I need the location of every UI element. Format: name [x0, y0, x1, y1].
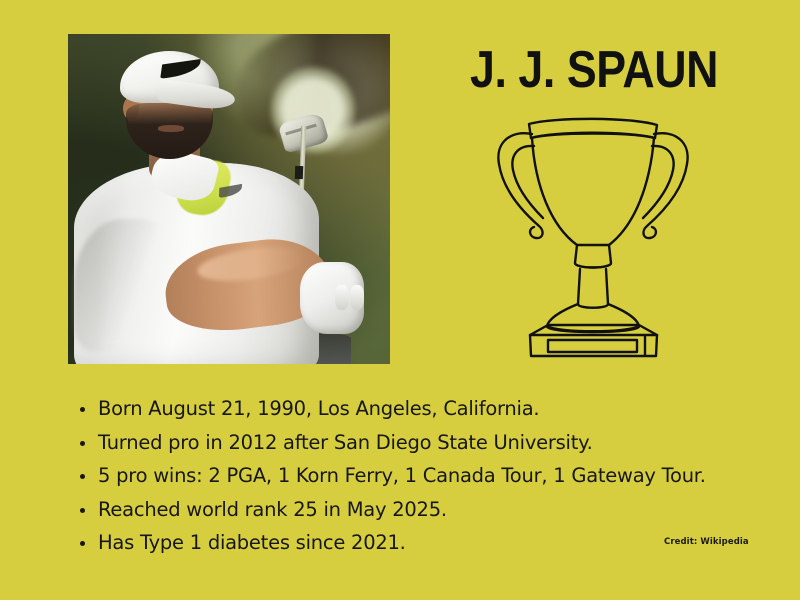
infographic-slide: J. J. SPAUN [0, 0, 800, 600]
photo-glove-finger [335, 285, 349, 310]
facts-list: Born August 21, 1990, Los Angeles, Calif… [78, 392, 768, 560]
list-item: Reached world rank 25 in May 2025. [78, 493, 768, 527]
photo-glove-finger [350, 285, 364, 310]
golfer-photo [68, 34, 390, 364]
photo-sleeve-shadow [74, 219, 171, 351]
credit-text: Credit: Wikipedia [664, 537, 749, 547]
page-title: J. J. SPAUN [470, 44, 728, 96]
list-item: 5 pro wins: 2 PGA, 1 Korn Ferry, 1 Canad… [78, 459, 768, 493]
golf-club-ferrule [294, 166, 303, 179]
list-item: Turned pro in 2012 after San Diego State… [78, 426, 768, 460]
trophy-icon [485, 108, 700, 360]
list-item: Born August 21, 1990, Los Angeles, Calif… [78, 392, 768, 426]
photo-mouth [158, 125, 184, 132]
